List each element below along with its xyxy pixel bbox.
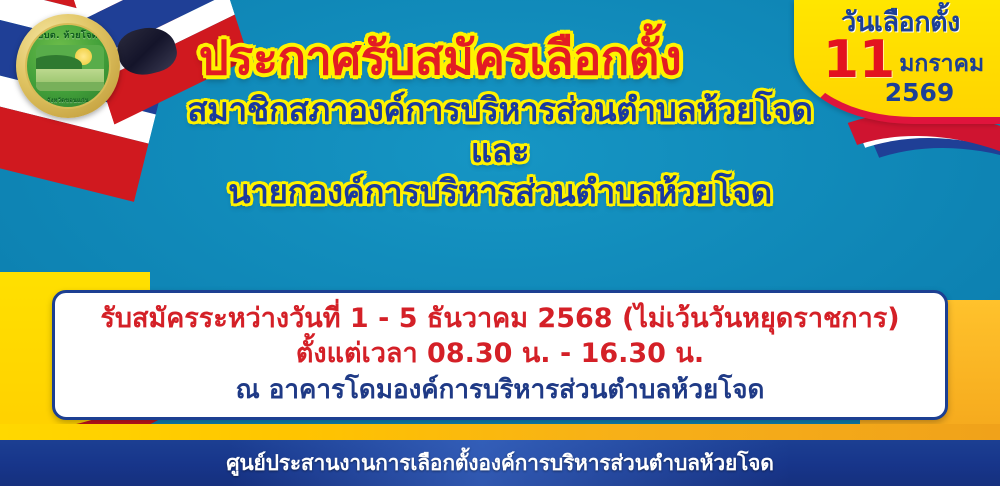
headline-main: ประกาศรับสมัครเลือกตั้ง (0, 34, 1000, 84)
headline-sub-council: สมาชิกสภาองค์การบริหารส่วนตำบลห้วยโจด (0, 91, 1000, 130)
footer-text: ศูนย์ประสานงานการเลือกตั้งองค์การบริหารส… (0, 440, 1000, 486)
headline-sub-mayor: นายกองค์การบริหารส่วนตำบลห้วยโจด (0, 173, 1000, 212)
headline-conjunction: และ (0, 132, 1000, 171)
footer-accent-strip (0, 424, 1000, 440)
election-announcement-banner: อบต. ห้วยโจด จังหวัดขอนแก่น วันเลือกตั้ง… (0, 0, 1000, 486)
registration-info-box: รับสมัครระหว่างวันที่ 1 - 5 ธันวาคม 2568… (52, 290, 948, 420)
info-line-dates: รับสมัครระหว่างวันที่ 1 - 5 ธันวาคม 2568… (100, 302, 899, 337)
info-line-venue: ณ อาคารโดมองค์การบริหารส่วนตำบลห้วยโจด (236, 374, 765, 407)
headline-block: ประกาศรับสมัครเลือกตั้ง สมาชิกสภาองค์การ… (0, 34, 1000, 212)
info-line-hours: ตั้งแต่เวลา 08.30 น. - 16.30 น. (296, 337, 704, 372)
